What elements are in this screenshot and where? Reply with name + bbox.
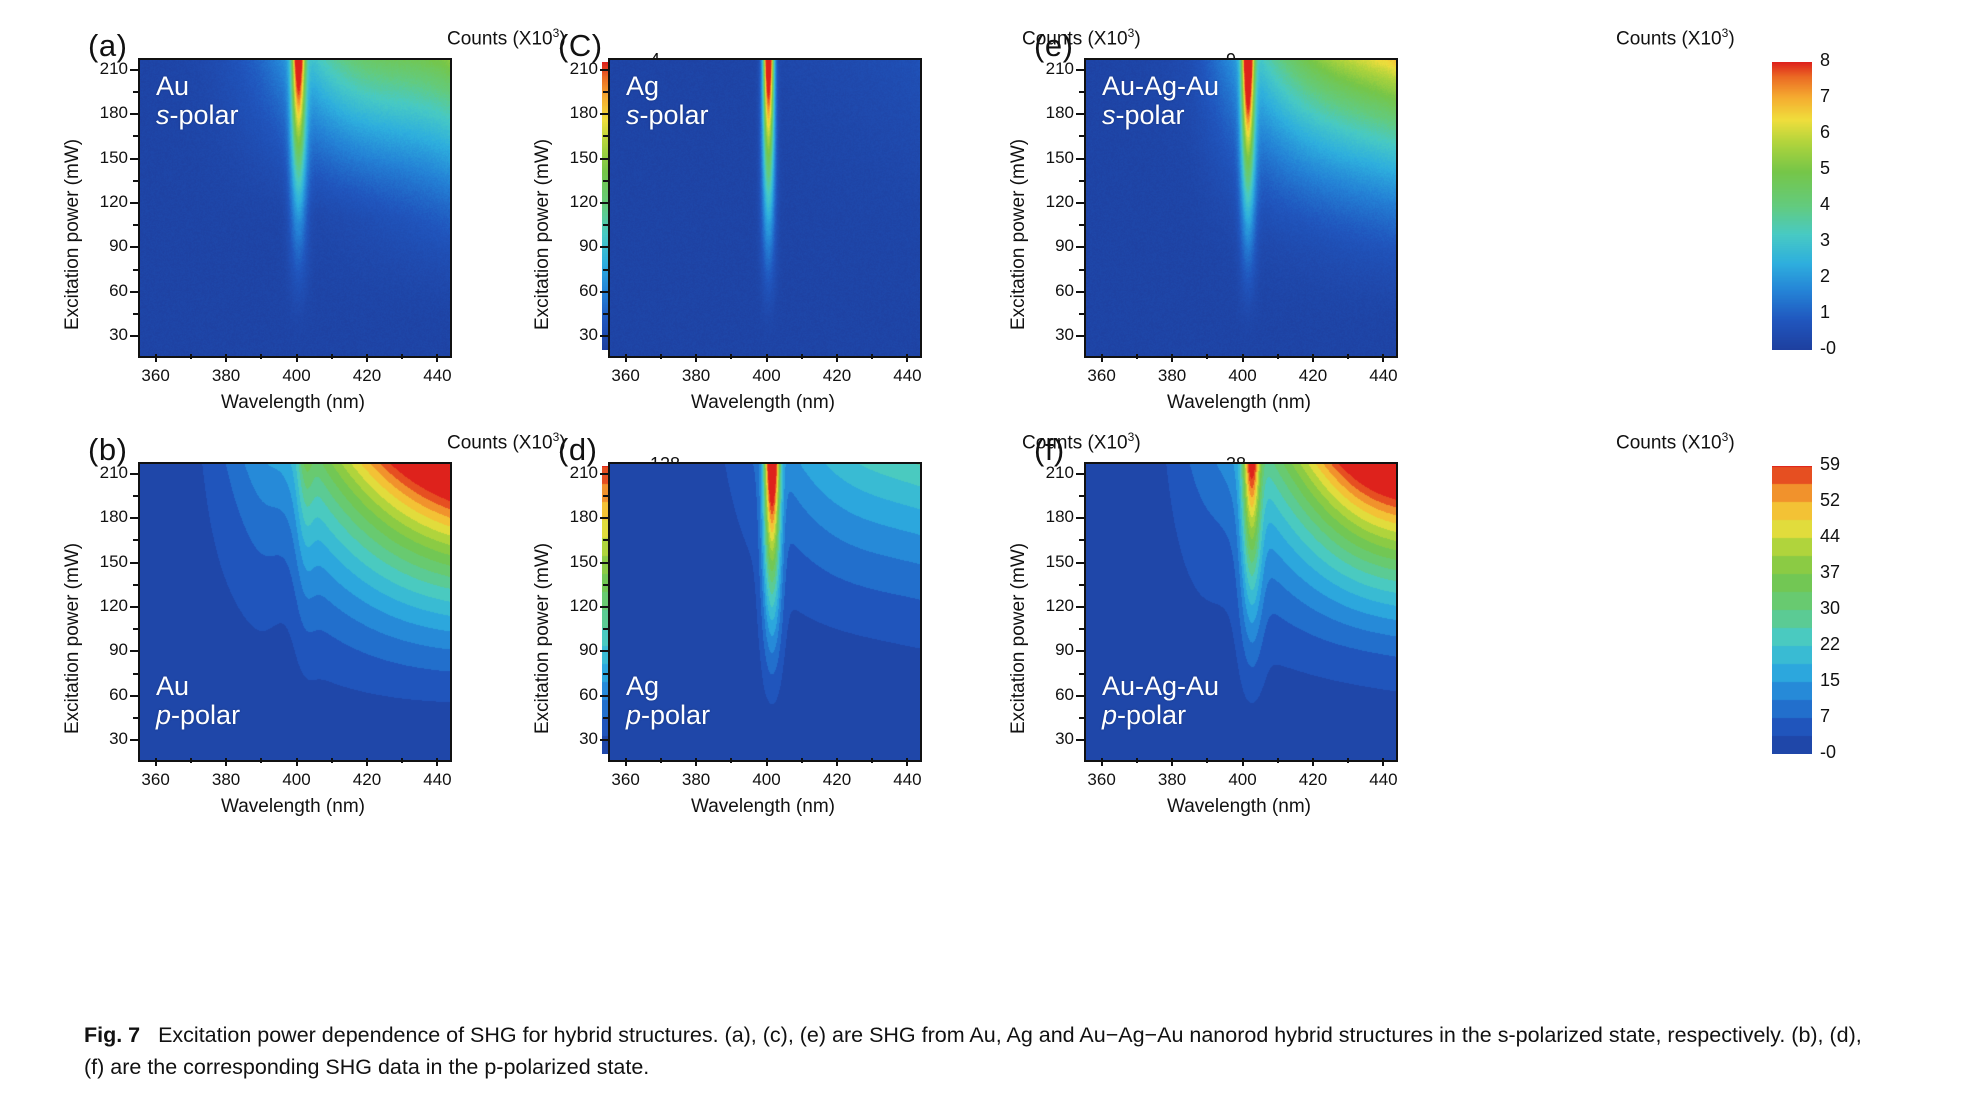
annotation-polarization-a: s-polar bbox=[156, 101, 239, 130]
y-axis-label-f: Excitation power (mW) bbox=[1008, 543, 1030, 734]
x-tick-label-e-4: 440 bbox=[1353, 366, 1413, 386]
x-tick-mark-c-3 bbox=[836, 354, 838, 362]
y-tick-label-c-6: 210 bbox=[552, 59, 598, 79]
y-minor-tick-b-5 bbox=[133, 495, 138, 497]
x-tick-label-a-4: 440 bbox=[407, 366, 467, 386]
x-tick-label-e-0: 360 bbox=[1072, 366, 1132, 386]
x-axis-label-f: Wavelength (nm) bbox=[1084, 796, 1394, 818]
colorbar-tick-f-0: 59 bbox=[1820, 454, 1840, 475]
annotation-material-f: Au-Ag-Au bbox=[1102, 672, 1219, 701]
plot-annotation-c: Ags-polar bbox=[626, 72, 709, 130]
y-tick-label-a-2: 90 bbox=[82, 236, 128, 256]
x-minor-tick-e-3 bbox=[1347, 354, 1349, 359]
y-tick-label-b-3: 120 bbox=[82, 596, 128, 616]
y-tick-label-d-6: 210 bbox=[552, 463, 598, 483]
y-tick-label-c-0: 30 bbox=[552, 325, 598, 345]
x-tick-mark-d-0 bbox=[625, 758, 627, 766]
x-minor-tick-b-1 bbox=[260, 758, 262, 763]
polarization-symbol-c: s bbox=[626, 100, 640, 130]
annotation-polarization-d: p-polar bbox=[626, 701, 710, 730]
y-minor-tick-f-4 bbox=[1079, 539, 1084, 541]
colorbar-title-text-e: Counts (X10 bbox=[1616, 28, 1722, 49]
y-tick-mark-e-3 bbox=[1076, 202, 1084, 204]
x-tick-mark-b-0 bbox=[155, 758, 157, 766]
x-tick-label-e-1: 380 bbox=[1142, 366, 1202, 386]
x-minor-tick-e-2 bbox=[1277, 354, 1279, 359]
y-minor-tick-c-1 bbox=[603, 269, 608, 271]
y-minor-tick-d-4 bbox=[603, 539, 608, 541]
x-minor-tick-c-2 bbox=[801, 354, 803, 359]
x-tick-label-a-0: 360 bbox=[126, 366, 186, 386]
colorbar-title-close-d: ) bbox=[1134, 432, 1140, 453]
colorbar-tick-e-6: 2 bbox=[1820, 266, 1830, 287]
x-minor-tick-d-1 bbox=[730, 758, 732, 763]
x-tick-mark-e-4 bbox=[1382, 354, 1384, 362]
y-tick-mark-e-2 bbox=[1076, 246, 1084, 248]
annotation-material-e: Au-Ag-Au bbox=[1102, 72, 1219, 101]
x-tick-mark-f-0 bbox=[1101, 758, 1103, 766]
annotation-material-a: Au bbox=[156, 72, 239, 101]
x-tick-label-f-4: 440 bbox=[1353, 770, 1413, 790]
y-tick-label-c-5: 180 bbox=[552, 103, 598, 123]
y-minor-tick-a-4 bbox=[133, 135, 138, 137]
figure-caption: Fig. 7 Excitation power dependence of SH… bbox=[84, 1020, 1884, 1084]
colorbar-gradient-e bbox=[1772, 62, 1812, 350]
x-tick-label-a-1: 380 bbox=[196, 366, 256, 386]
y-tick-mark-b-3 bbox=[130, 606, 138, 608]
y-minor-tick-e-0 bbox=[1079, 313, 1084, 315]
y-tick-mark-f-0 bbox=[1076, 739, 1084, 741]
colorbar-tick-f-1: 52 bbox=[1820, 490, 1840, 511]
plot-annotation-b: Aup-polar bbox=[156, 672, 240, 730]
x-tick-mark-e-1 bbox=[1171, 354, 1173, 362]
x-axis-label-e: Wavelength (nm) bbox=[1084, 392, 1394, 414]
y-tick-label-b-0: 30 bbox=[82, 729, 128, 749]
y-tick-mark-a-4 bbox=[130, 158, 138, 160]
y-tick-mark-d-2 bbox=[600, 650, 608, 652]
colorbar-title-f: Counts (X103) bbox=[1616, 430, 1735, 454]
polarization-suffix-c: -polar bbox=[640, 100, 709, 130]
x-minor-tick-d-3 bbox=[871, 758, 873, 763]
x-tick-mark-b-4 bbox=[436, 758, 438, 766]
y-tick-mark-e-1 bbox=[1076, 291, 1084, 293]
x-minor-tick-f-3 bbox=[1347, 758, 1349, 763]
x-minor-tick-e-0 bbox=[1136, 354, 1138, 359]
plot-annotation-d: Agp-polar bbox=[626, 672, 710, 730]
y-tick-mark-c-1 bbox=[600, 291, 608, 293]
y-tick-label-f-5: 180 bbox=[1028, 507, 1074, 527]
plot-annotation-e: Au-Ag-Aus-polar bbox=[1102, 72, 1219, 130]
y-tick-mark-a-0 bbox=[130, 335, 138, 337]
x-tick-mark-d-3 bbox=[836, 758, 838, 766]
colorbar-title-close-f: ) bbox=[1728, 432, 1734, 453]
x-minor-tick-f-0 bbox=[1136, 758, 1138, 763]
y-tick-mark-d-6 bbox=[600, 473, 608, 475]
annotation-polarization-f: p-polar bbox=[1102, 701, 1219, 730]
annotation-polarization-e: s-polar bbox=[1102, 101, 1219, 130]
y-tick-mark-e-5 bbox=[1076, 113, 1084, 115]
colorbar-tick-f-8: -0 bbox=[1820, 742, 1836, 763]
x-tick-label-a-2: 400 bbox=[267, 366, 327, 386]
x-tick-label-f-3: 420 bbox=[1283, 770, 1343, 790]
y-tick-label-e-3: 120 bbox=[1028, 192, 1074, 212]
y-minor-tick-f-3 bbox=[1079, 584, 1084, 586]
x-tick-mark-a-1 bbox=[225, 354, 227, 362]
colorbar-e[interactable] bbox=[1772, 62, 1812, 350]
y-tick-label-d-0: 30 bbox=[552, 729, 598, 749]
y-tick-label-e-6: 210 bbox=[1028, 59, 1074, 79]
x-tick-mark-b-2 bbox=[296, 758, 298, 766]
y-tick-mark-a-3 bbox=[130, 202, 138, 204]
x-tick-mark-b-3 bbox=[366, 758, 368, 766]
x-tick-label-d-4: 440 bbox=[877, 770, 937, 790]
x-minor-tick-d-0 bbox=[660, 758, 662, 763]
polarization-symbol-a: s bbox=[156, 100, 170, 130]
annotation-material-d: Ag bbox=[626, 672, 710, 701]
x-minor-tick-b-0 bbox=[190, 758, 192, 763]
annotation-material-b: Au bbox=[156, 672, 240, 701]
colorbar-tick-f-5: 22 bbox=[1820, 634, 1840, 655]
y-axis-label-c: Excitation power (mW) bbox=[532, 139, 554, 330]
x-minor-tick-b-2 bbox=[331, 758, 333, 763]
polarization-suffix-e: -polar bbox=[1116, 100, 1185, 130]
y-tick-mark-d-5 bbox=[600, 517, 608, 519]
x-tick-label-b-2: 400 bbox=[267, 770, 327, 790]
y-minor-tick-b-1 bbox=[133, 673, 138, 675]
y-minor-tick-d-0 bbox=[603, 717, 608, 719]
colorbar-title-text-b: Counts (X10 bbox=[447, 432, 553, 453]
colorbar-tick-f-2: 44 bbox=[1820, 526, 1840, 547]
y-tick-mark-f-1 bbox=[1076, 695, 1084, 697]
y-tick-label-e-1: 60 bbox=[1028, 281, 1074, 301]
x-tick-mark-d-2 bbox=[766, 758, 768, 766]
colorbar-tick-f-7: 7 bbox=[1820, 706, 1830, 727]
x-tick-label-b-0: 360 bbox=[126, 770, 186, 790]
y-tick-mark-c-4 bbox=[600, 158, 608, 160]
figure-root: (a)Aus-polar3060901201501802103603804004… bbox=[0, 0, 1962, 1116]
x-minor-tick-c-1 bbox=[730, 354, 732, 359]
y-minor-tick-a-5 bbox=[133, 91, 138, 93]
colorbar-tick-e-0: 8 bbox=[1820, 50, 1830, 71]
y-tick-mark-b-4 bbox=[130, 562, 138, 564]
x-tick-mark-f-2 bbox=[1242, 758, 1244, 766]
y-minor-tick-a-3 bbox=[133, 180, 138, 182]
y-tick-label-a-3: 120 bbox=[82, 192, 128, 212]
y-tick-label-b-1: 60 bbox=[82, 685, 128, 705]
x-axis-label-b: Wavelength (nm) bbox=[138, 796, 448, 818]
x-tick-label-c-4: 440 bbox=[877, 366, 937, 386]
y-minor-tick-f-2 bbox=[1079, 628, 1084, 630]
x-tick-label-d-3: 420 bbox=[807, 770, 867, 790]
plot-annotation-a: Aus-polar bbox=[156, 72, 239, 130]
y-minor-tick-b-3 bbox=[133, 584, 138, 586]
y-tick-mark-c-5 bbox=[600, 113, 608, 115]
y-tick-mark-f-5 bbox=[1076, 517, 1084, 519]
y-tick-label-c-2: 90 bbox=[552, 236, 598, 256]
x-tick-mark-f-3 bbox=[1312, 758, 1314, 766]
x-tick-label-b-3: 420 bbox=[337, 770, 397, 790]
y-tick-label-e-4: 150 bbox=[1028, 148, 1074, 168]
x-tick-label-c-0: 360 bbox=[596, 366, 656, 386]
colorbar-title-text-f: Counts (X10 bbox=[1616, 432, 1722, 453]
y-axis-label-a: Excitation power (mW) bbox=[62, 139, 84, 330]
y-tick-mark-f-6 bbox=[1076, 473, 1084, 475]
colorbar-title-close-c: ) bbox=[1134, 28, 1140, 49]
y-tick-mark-f-4 bbox=[1076, 562, 1084, 564]
y-tick-label-f-3: 120 bbox=[1028, 596, 1074, 616]
y-tick-mark-f-3 bbox=[1076, 606, 1084, 608]
y-tick-mark-b-5 bbox=[130, 517, 138, 519]
colorbar-tick-e-2: 6 bbox=[1820, 122, 1830, 143]
colorbar-tick-e-8: -0 bbox=[1820, 338, 1836, 359]
y-minor-tick-b-0 bbox=[133, 717, 138, 719]
x-axis-label-c: Wavelength (nm) bbox=[608, 392, 918, 414]
x-tick-label-e-2: 400 bbox=[1213, 366, 1273, 386]
polarization-symbol-d: p bbox=[626, 700, 641, 730]
x-tick-mark-c-2 bbox=[766, 354, 768, 362]
x-minor-tick-c-0 bbox=[660, 354, 662, 359]
x-tick-mark-e-0 bbox=[1101, 354, 1103, 362]
y-minor-tick-f-1 bbox=[1079, 673, 1084, 675]
y-tick-label-f-0: 30 bbox=[1028, 729, 1074, 749]
x-axis-label-a: Wavelength (nm) bbox=[138, 392, 448, 414]
y-tick-mark-d-1 bbox=[600, 695, 608, 697]
x-tick-label-f-2: 400 bbox=[1213, 770, 1273, 790]
colorbar-tick-e-7: 1 bbox=[1820, 302, 1830, 323]
polarization-symbol-e: s bbox=[1102, 100, 1116, 130]
y-minor-tick-f-0 bbox=[1079, 717, 1084, 719]
x-tick-label-a-3: 420 bbox=[337, 366, 397, 386]
y-minor-tick-d-5 bbox=[603, 495, 608, 497]
y-minor-tick-a-1 bbox=[133, 269, 138, 271]
y-minor-tick-c-3 bbox=[603, 180, 608, 182]
y-tick-mark-c-0 bbox=[600, 335, 608, 337]
annotation-polarization-c: s-polar bbox=[626, 101, 709, 130]
polarization-suffix-b: -polar bbox=[171, 700, 240, 730]
y-axis-label-d: Excitation power (mW) bbox=[532, 543, 554, 734]
y-tick-label-e-0: 30 bbox=[1028, 325, 1074, 345]
y-tick-label-f-4: 150 bbox=[1028, 552, 1074, 572]
y-minor-tick-a-0 bbox=[133, 313, 138, 315]
x-tick-mark-f-4 bbox=[1382, 758, 1384, 766]
x-minor-tick-a-0 bbox=[190, 354, 192, 359]
y-tick-label-a-1: 60 bbox=[82, 281, 128, 301]
y-minor-tick-e-1 bbox=[1079, 269, 1084, 271]
polarization-suffix-a: -polar bbox=[170, 100, 239, 130]
colorbar-title-text-a: Counts (X10 bbox=[447, 28, 553, 49]
y-tick-mark-d-3 bbox=[600, 606, 608, 608]
x-tick-mark-d-4 bbox=[906, 758, 908, 766]
x-tick-mark-a-4 bbox=[436, 354, 438, 362]
y-axis-label-b: Excitation power (mW) bbox=[62, 543, 84, 734]
colorbar-tick-e-4: 4 bbox=[1820, 194, 1830, 215]
y-tick-mark-b-1 bbox=[130, 695, 138, 697]
y-tick-mark-e-6 bbox=[1076, 69, 1084, 71]
y-tick-mark-d-4 bbox=[600, 562, 608, 564]
colorbar-tick-e-5: 3 bbox=[1820, 230, 1830, 251]
x-tick-mark-e-3 bbox=[1312, 354, 1314, 362]
y-tick-label-b-6: 210 bbox=[82, 463, 128, 483]
y-minor-tick-b-2 bbox=[133, 628, 138, 630]
y-tick-label-a-6: 210 bbox=[82, 59, 128, 79]
y-tick-label-a-5: 180 bbox=[82, 103, 128, 123]
colorbar-title-close-e: ) bbox=[1728, 28, 1734, 49]
x-tick-mark-a-0 bbox=[155, 354, 157, 362]
x-tick-label-c-1: 380 bbox=[666, 366, 726, 386]
y-tick-mark-a-5 bbox=[130, 113, 138, 115]
y-tick-label-c-1: 60 bbox=[552, 281, 598, 301]
colorbar-tick-f-4: 30 bbox=[1820, 598, 1840, 619]
colorbar-tick-f-6: 15 bbox=[1820, 670, 1840, 691]
y-tick-label-d-4: 150 bbox=[552, 552, 598, 572]
y-tick-label-c-3: 120 bbox=[552, 192, 598, 212]
plot-annotation-f: Au-Ag-Aup-polar bbox=[1102, 672, 1219, 730]
y-minor-tick-c-0 bbox=[603, 313, 608, 315]
y-minor-tick-b-4 bbox=[133, 539, 138, 541]
x-tick-label-c-3: 420 bbox=[807, 366, 867, 386]
y-tick-label-e-2: 90 bbox=[1028, 236, 1074, 256]
y-axis-label-e: Excitation power (mW) bbox=[1008, 139, 1030, 330]
x-minor-tick-f-1 bbox=[1206, 758, 1208, 763]
x-minor-tick-a-3 bbox=[401, 354, 403, 359]
x-tick-mark-c-0 bbox=[625, 354, 627, 362]
y-tick-label-d-1: 60 bbox=[552, 685, 598, 705]
y-tick-mark-c-2 bbox=[600, 246, 608, 248]
y-minor-tick-e-3 bbox=[1079, 180, 1084, 182]
y-tick-label-d-3: 120 bbox=[552, 596, 598, 616]
x-tick-mark-b-1 bbox=[225, 758, 227, 766]
x-tick-label-e-3: 420 bbox=[1283, 366, 1343, 386]
x-tick-mark-d-1 bbox=[695, 758, 697, 766]
x-tick-mark-c-1 bbox=[695, 354, 697, 362]
y-minor-tick-a-2 bbox=[133, 224, 138, 226]
y-minor-tick-d-3 bbox=[603, 584, 608, 586]
y-minor-tick-d-1 bbox=[603, 673, 608, 675]
x-tick-label-d-0: 360 bbox=[596, 770, 656, 790]
polarization-suffix-d: -polar bbox=[641, 700, 710, 730]
y-tick-mark-a-1 bbox=[130, 291, 138, 293]
y-tick-mark-b-6 bbox=[130, 473, 138, 475]
x-tick-label-c-2: 400 bbox=[737, 366, 797, 386]
polarization-suffix-f: -polar bbox=[1117, 700, 1186, 730]
y-tick-label-a-4: 150 bbox=[82, 148, 128, 168]
x-tick-label-d-2: 400 bbox=[737, 770, 797, 790]
x-tick-mark-a-3 bbox=[366, 354, 368, 362]
y-tick-label-d-2: 90 bbox=[552, 640, 598, 660]
y-minor-tick-f-5 bbox=[1079, 495, 1084, 497]
y-tick-label-f-1: 60 bbox=[1028, 685, 1074, 705]
colorbar-tick-e-3: 5 bbox=[1820, 158, 1830, 179]
x-minor-tick-e-1 bbox=[1206, 354, 1208, 359]
colorbar-tick-e-1: 7 bbox=[1820, 86, 1830, 107]
y-tick-mark-e-4 bbox=[1076, 158, 1084, 160]
y-tick-mark-b-0 bbox=[130, 739, 138, 741]
polarization-symbol-f: p bbox=[1102, 700, 1117, 730]
x-tick-label-b-4: 440 bbox=[407, 770, 467, 790]
caption-label: Fig. 7 bbox=[84, 1023, 140, 1047]
x-minor-tick-b-3 bbox=[401, 758, 403, 763]
y-minor-tick-c-5 bbox=[603, 91, 608, 93]
x-minor-tick-c-3 bbox=[871, 354, 873, 359]
x-minor-tick-a-2 bbox=[331, 354, 333, 359]
y-tick-label-c-4: 150 bbox=[552, 148, 598, 168]
annotation-material-c: Ag bbox=[626, 72, 709, 101]
annotation-polarization-b: p-polar bbox=[156, 701, 240, 730]
y-tick-label-b-4: 150 bbox=[82, 552, 128, 572]
y-minor-tick-e-5 bbox=[1079, 91, 1084, 93]
y-tick-label-e-5: 180 bbox=[1028, 103, 1074, 123]
y-tick-mark-c-3 bbox=[600, 202, 608, 204]
y-tick-label-f-2: 90 bbox=[1028, 640, 1074, 660]
x-axis-label-d: Wavelength (nm) bbox=[608, 796, 918, 818]
caption-text: Excitation power dependence of SHG for h… bbox=[84, 1023, 1862, 1079]
colorbar-gradient-f bbox=[1772, 466, 1812, 754]
y-minor-tick-d-2 bbox=[603, 628, 608, 630]
y-tick-mark-f-2 bbox=[1076, 650, 1084, 652]
y-tick-mark-d-0 bbox=[600, 739, 608, 741]
x-minor-tick-a-1 bbox=[260, 354, 262, 359]
y-tick-label-d-5: 180 bbox=[552, 507, 598, 527]
y-minor-tick-e-2 bbox=[1079, 224, 1084, 226]
y-tick-mark-c-6 bbox=[600, 69, 608, 71]
x-tick-label-f-1: 380 bbox=[1142, 770, 1202, 790]
y-minor-tick-c-2 bbox=[603, 224, 608, 226]
x-minor-tick-d-2 bbox=[801, 758, 803, 763]
colorbar-f[interactable] bbox=[1772, 466, 1812, 754]
y-tick-mark-b-2 bbox=[130, 650, 138, 652]
y-tick-label-f-6: 210 bbox=[1028, 463, 1074, 483]
y-minor-tick-e-4 bbox=[1079, 135, 1084, 137]
x-minor-tick-f-2 bbox=[1277, 758, 1279, 763]
y-minor-tick-c-4 bbox=[603, 135, 608, 137]
polarization-symbol-b: p bbox=[156, 700, 171, 730]
x-tick-mark-e-2 bbox=[1242, 354, 1244, 362]
colorbar-tick-f-3: 37 bbox=[1820, 562, 1840, 583]
x-tick-mark-c-4 bbox=[906, 354, 908, 362]
x-tick-label-f-0: 360 bbox=[1072, 770, 1132, 790]
y-tick-label-b-2: 90 bbox=[82, 640, 128, 660]
x-tick-label-d-1: 380 bbox=[666, 770, 726, 790]
y-tick-mark-e-0 bbox=[1076, 335, 1084, 337]
y-tick-mark-a-6 bbox=[130, 69, 138, 71]
y-tick-label-a-0: 30 bbox=[82, 325, 128, 345]
colorbar-title-a: Counts (X103) bbox=[447, 26, 566, 50]
x-tick-label-b-1: 380 bbox=[196, 770, 256, 790]
y-tick-mark-a-2 bbox=[130, 246, 138, 248]
colorbar-title-b: Counts (X103) bbox=[447, 430, 566, 454]
colorbar-title-e: Counts (X103) bbox=[1616, 26, 1735, 50]
x-tick-mark-a-2 bbox=[296, 354, 298, 362]
y-tick-label-b-5: 180 bbox=[82, 507, 128, 527]
x-tick-mark-f-1 bbox=[1171, 758, 1173, 766]
